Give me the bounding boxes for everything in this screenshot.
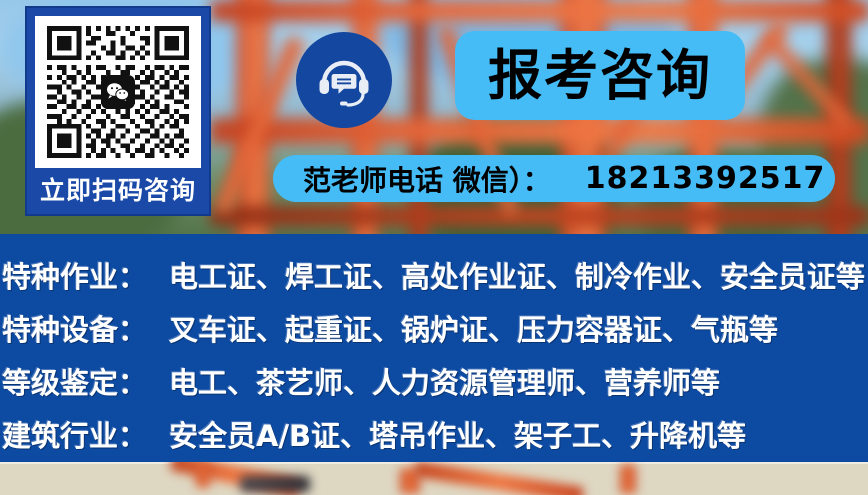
qr-code-white-area	[35, 16, 201, 168]
bottom-photo-strip	[0, 462, 868, 495]
crane-base-shadow	[240, 476, 310, 492]
crane-chord	[210, 118, 868, 144]
wechat-icon	[101, 75, 135, 109]
list-item-details: 叉车证、起重证、锅炉证、压力容器证、气瓶等	[169, 307, 778, 349]
list-item-details: 电工证、焊工证、高处作业证、制冷作业、安全员证等	[169, 254, 865, 296]
list-item-category: 特种作业：	[2, 254, 147, 296]
list-item: 等级鉴定： 电工、茶艺师、人力资源管理师、营养师等	[0, 358, 868, 403]
contact-phone-pill: 范老师电话 微信）： 18213392517	[273, 155, 835, 202]
title-pill-text: 报考咨询	[488, 49, 712, 103]
qr-code-label: 立即扫码咨询	[27, 171, 209, 211]
contact-label: 范老师电话 微信）：	[303, 159, 551, 199]
crane-base-beam	[414, 462, 584, 495]
headset-support-icon	[313, 49, 375, 111]
list-item-category: 建筑行业：	[2, 413, 147, 455]
list-item-details: 安全员A/B证、塔吊作业、架子工、升降机等	[169, 413, 746, 455]
advertisement-poster: 立即扫码咨询 报考咨询 范老师电话 微信）： 18213392517 特	[0, 0, 868, 495]
title-pill-banner: 报考咨询	[455, 31, 745, 120]
certification-list-panel: 特种作业： 电工证、焊工证、高处作业证、制冷作业、安全员证等 特种设备： 叉车证…	[0, 234, 868, 462]
crane-base-beam	[196, 464, 210, 488]
crane-chord	[210, 206, 868, 226]
crane-base-beam	[620, 464, 636, 494]
list-item: 特种作业： 电工证、焊工证、高处作业证、制冷作业、安全员证等	[0, 252, 868, 297]
list-item: 特种设备： 叉车证、起重证、锅炉证、压力容器证、气瓶等	[0, 305, 868, 350]
list-item: 建筑行业： 安全员A/B证、塔吊作业、架子工、升降机等	[0, 411, 868, 456]
list-item-category: 等级鉴定：	[2, 360, 147, 402]
contact-phone-number[interactable]: 18213392517	[585, 161, 826, 196]
qr-code-card[interactable]: 立即扫码咨询	[27, 8, 209, 214]
crane-chord	[210, 0, 868, 22]
headset-support-badge	[296, 32, 392, 128]
list-item-details: 电工、茶艺师、人力资源管理师、营养师等	[169, 360, 720, 402]
list-item-category: 特种设备：	[2, 307, 147, 349]
